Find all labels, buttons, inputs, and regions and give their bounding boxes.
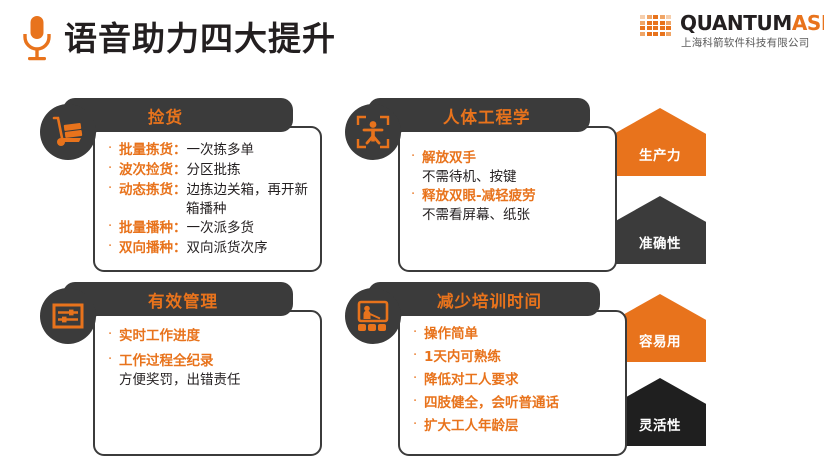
list-item: · 释放双眼-减轻疲劳 <box>411 186 536 205</box>
logo-word-primary: QUANTUM <box>680 11 792 35</box>
logo-subtitle: 上海科箭软件科技有限公司 <box>681 35 809 50</box>
item-key: 实时工作进度 <box>119 328 200 344</box>
list-item: · 1天内可熟练 <box>413 347 559 366</box>
sliders-icon <box>40 288 96 344</box>
item-value: 一次拣多单 <box>187 142 255 158</box>
item-value: 边拣边关箱，再开新 <box>187 182 309 198</box>
bullet-icon: · <box>413 347 424 365</box>
card-training-items: · 操作简单 · 1天内可熟练 · 降低对工人要求 · 四肢健全，会听普通话 ·… <box>413 324 559 436</box>
item-continuation: 箱播种 <box>186 200 308 218</box>
logo-grid-icon <box>640 15 671 36</box>
benefit-label: 生产力 <box>614 144 706 164</box>
bullet-icon: · <box>108 326 119 344</box>
page-title: 语音助力四大提升 <box>64 18 336 60</box>
item-key: 双向播种： <box>119 240 187 256</box>
bullet-icon: · <box>413 393 424 411</box>
list-item: · 实时工作进度 <box>108 326 241 345</box>
bullet-icon: · <box>108 351 119 369</box>
list-item: · 工作过程全纪录 <box>108 351 241 370</box>
item-key: 动态拣货： <box>119 182 187 198</box>
logo-wordmark: QUANTUMASIA <box>680 12 824 34</box>
card-ergonomics: 人体工程学 · 解放双手 不需待机、按键 · 释放双眼-减轻疲劳 不需看屏幕、纸… <box>345 98 615 273</box>
benefit-label: 灵活性 <box>614 414 706 434</box>
item-value: 分区批拣 <box>187 162 241 178</box>
item-value: 一次派多货 <box>187 220 255 236</box>
card-picking-title: 捡货 <box>148 104 183 128</box>
item-key: 扩大工人年龄层 <box>424 418 519 434</box>
slide-header: 语音助力四大提升 QUANTUMASIA 上海科箭软件科技有限公司 <box>0 0 824 76</box>
list-item: · 动态拣货：边拣边关箱，再开新 <box>108 180 308 199</box>
item-key: 批量拣货： <box>119 142 187 158</box>
card-training: 减少培训时间 · 操作简单 · 1天内可熟练 · 降低对工人要求 · 四肢健全，… <box>345 282 625 457</box>
card-management-title: 有效管理 <box>148 288 218 312</box>
item-key: 工作过程全纪录 <box>119 353 214 369</box>
bullet-icon: · <box>411 186 422 204</box>
card-ergonomics-title: 人体工程学 <box>443 104 531 128</box>
list-item: · 操作简单 <box>413 324 559 343</box>
hand-truck-icon <box>40 104 96 160</box>
item-key: 1天内可熟练 <box>424 349 501 365</box>
item-value: 双向派货次序 <box>187 240 268 256</box>
bullet-icon: · <box>108 180 119 198</box>
list-item: · 降低对工人要求 <box>413 370 559 389</box>
card-picking: 捡货 · 批量拣货：一次拣多单 · 波次捡货：分区批拣 · 动态拣货：边拣边关箱… <box>40 98 320 273</box>
list-item: · 四肢健全，会听普通话 <box>413 393 559 412</box>
classroom-icon <box>345 288 401 344</box>
bullet-icon: · <box>411 148 422 166</box>
item-key: 批量播种： <box>119 220 187 236</box>
benefit-flexibility: 灵活性 <box>614 378 706 446</box>
item-key: 释放双眼-减轻疲劳 <box>422 188 536 204</box>
bullet-icon: · <box>413 370 424 388</box>
card-ergonomics-items: · 解放双手 不需待机、按键 · 释放双眼-减轻疲劳 不需看屏幕、纸张 <box>411 148 536 224</box>
card-management-items: · 实时工作进度 · 工作过程全纪录 方便奖罚，出错责任 <box>108 326 241 389</box>
item-key: 降低对工人要求 <box>424 372 519 388</box>
list-item: · 批量播种：一次派多货 <box>108 218 308 237</box>
logo-word-accent: ASIA <box>792 11 824 35</box>
bullet-icon: · <box>413 416 424 434</box>
list-item: · 波次捡货：分区批拣 <box>108 160 308 179</box>
brand-logo: QUANTUMASIA 上海科箭软件科技有限公司 <box>640 10 812 54</box>
list-item: · 双向播种：双向派货次序 <box>108 238 308 257</box>
list-item: · 批量拣货：一次拣多单 <box>108 140 308 159</box>
person-frame-icon <box>345 104 401 160</box>
list-item: · 扩大工人年龄层 <box>413 416 559 435</box>
item-key: 解放双手 <box>422 150 476 166</box>
list-item: · 解放双手 <box>411 148 536 167</box>
item-key: 操作简单 <box>424 326 478 342</box>
item-subtext: 方便奖罚，出错责任 <box>119 371 241 389</box>
benefit-label: 容易用 <box>614 330 706 350</box>
item-key: 四肢健全，会听普通话 <box>424 395 559 411</box>
benefit-ease-of-use: 容易用 <box>614 294 706 362</box>
bullet-icon: · <box>108 160 119 178</box>
benefit-label: 准确性 <box>614 232 706 252</box>
card-training-title: 减少培训时间 <box>437 288 542 312</box>
benefit-productivity: 生产力 <box>614 108 706 176</box>
bullet-icon: · <box>108 238 119 256</box>
card-picking-items: · 批量拣货：一次拣多单 · 波次捡货：分区批拣 · 动态拣货：边拣边关箱，再开… <box>108 140 308 258</box>
item-key: 波次捡货： <box>119 162 187 178</box>
bullet-icon: · <box>108 140 119 158</box>
card-management: 有效管理 · 实时工作进度 · 工作过程全纪录 方便奖罚，出错责任 <box>40 282 320 457</box>
bullet-icon: · <box>108 218 119 236</box>
bullet-icon: · <box>413 324 424 342</box>
item-subtext: 不需看屏幕、纸张 <box>422 206 536 224</box>
microphone-icon <box>18 14 56 64</box>
benefit-accuracy: 准确性 <box>614 196 706 264</box>
item-subtext: 不需待机、按键 <box>422 168 536 186</box>
